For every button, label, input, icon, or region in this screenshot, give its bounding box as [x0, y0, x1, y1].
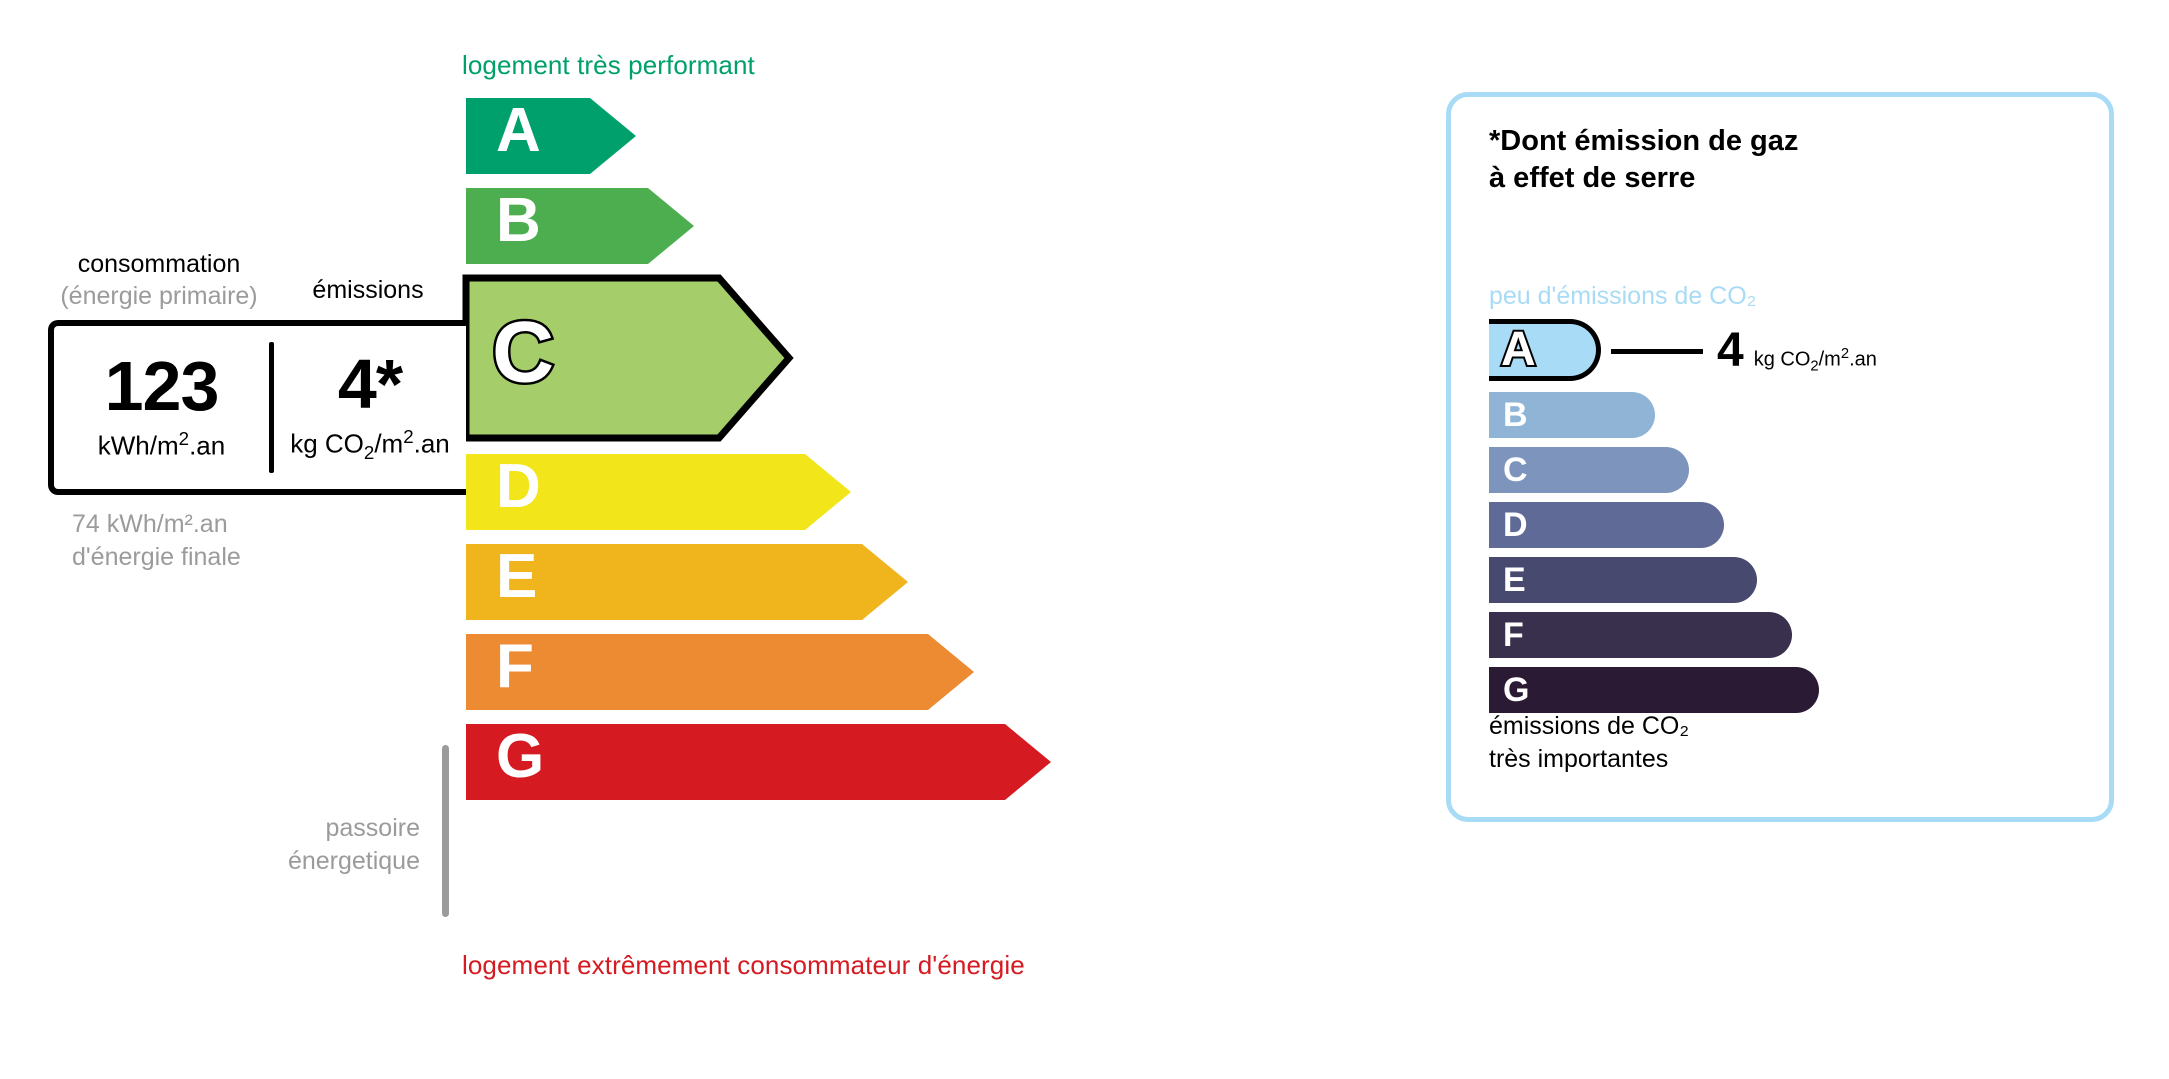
- energy-band-arrow-b: B: [462, 184, 1262, 260]
- co2-bar-row-b: B: [1489, 392, 2089, 438]
- co2-bar-letter-b: B: [1503, 398, 1528, 432]
- energy-band-e: E: [462, 540, 1262, 616]
- energy-band-arrow-d: D: [462, 450, 1262, 526]
- energy-band-g: G: [462, 720, 1262, 796]
- energy-band-f: F: [462, 630, 1262, 706]
- emission-value: 4*: [338, 351, 402, 418]
- emission-unit-prefix: kg CO: [290, 428, 364, 458]
- co2-value-unit: kg CO2/m2.an: [1754, 346, 1877, 375]
- consumption-header: consommation (énergie primaire): [48, 248, 270, 312]
- co2-bar-g: G: [1489, 667, 1819, 713]
- band-shape-d: [466, 454, 851, 530]
- co2-panel: *Dont émission de gaz à effet de serre p…: [1446, 92, 2114, 822]
- energy-band-arrow-c: C: [462, 274, 1262, 434]
- passoire-label-line2: énergetique: [230, 845, 420, 878]
- consumption-header-line1: consommation: [48, 248, 270, 280]
- co2-bar-row-c: C: [1489, 447, 2089, 493]
- co2-bar-a: A: [1489, 319, 1601, 381]
- co2-value-group: 4kg CO2/m2.an: [1717, 327, 1877, 375]
- passoire-marker-bar: [442, 745, 449, 917]
- co2-title-line2: à effet de serre: [1489, 160, 1798, 197]
- emission-value-cell: 4* kg CO2/m2.an: [274, 326, 466, 489]
- co2-bar-f: F: [1489, 612, 1792, 658]
- consumption-unit-sup: 2: [179, 428, 189, 449]
- co2-bar-letter-a: A: [1501, 326, 1536, 374]
- co2-bar-e: E: [1489, 557, 1757, 603]
- co2-bar-row-d: D: [1489, 502, 2089, 548]
- band-shape-e: [466, 544, 908, 620]
- co2-top-caption: peu d'émissions de CO₂: [1489, 282, 1756, 311]
- consumption-unit: kWh/m2.an: [98, 428, 225, 462]
- passoire-label-line1: passoire: [230, 812, 420, 845]
- energy-band-arrow-g: G: [462, 720, 1262, 796]
- co2-leader-line: [1611, 349, 1703, 354]
- co2-bar-stack: A4kg CO2/m2.anBCDEFG: [1489, 319, 2089, 722]
- emission-unit-sup: 2: [403, 426, 413, 447]
- co2-bar-letter-d: D: [1503, 508, 1528, 542]
- co2-bar-letter-g: G: [1503, 673, 1529, 707]
- co2-bottom-caption-line1: émissions de CO₂: [1489, 710, 1689, 743]
- final-energy-line1: 74 kWh/m².an: [72, 508, 241, 541]
- energy-performance-panel: logement très performant ABCDEFG logemen…: [0, 0, 1380, 1079]
- co2-unit-sup: 2: [1841, 346, 1849, 362]
- final-energy-line2: d'énergie finale: [72, 541, 241, 574]
- emission-unit: kg CO2/m2.an: [290, 426, 450, 464]
- co2-bar-letter-f: F: [1503, 618, 1524, 652]
- emissions-header: émissions: [278, 276, 458, 305]
- band-shape-b: [466, 188, 694, 264]
- consumption-unit-suffix: .an: [189, 431, 225, 461]
- co2-bar-c: C: [1489, 447, 1689, 493]
- band-shape-f: [466, 634, 974, 710]
- energy-band-b: B: [462, 184, 1262, 260]
- emission-unit-suffix: .an: [414, 428, 450, 458]
- co2-title-line1: *Dont émission de gaz: [1489, 123, 1798, 160]
- consumption-value-cell: 123 kWh/m2.an: [54, 326, 269, 489]
- band-shape-a: [466, 98, 636, 174]
- band-shape-g: [466, 724, 1051, 800]
- co2-bar-row-f: F: [1489, 612, 2089, 658]
- co2-bar-letter-c: C: [1503, 453, 1528, 487]
- energy-bottom-caption: logement extrêmement consommateur d'éner…: [462, 950, 1025, 981]
- energy-band-arrow-a: A: [462, 94, 1262, 170]
- co2-bottom-caption-line2: très importantes: [1489, 743, 1689, 776]
- co2-unit-prefix: kg CO: [1754, 349, 1811, 371]
- co2-bar-letter-e: E: [1503, 563, 1526, 597]
- energy-band-d: D: [462, 450, 1262, 526]
- band-shape-c: [466, 278, 789, 438]
- value-box: 123 kWh/m2.an 4* kg CO2/m2.an: [48, 320, 466, 495]
- co2-unit-suffix: .an: [1849, 349, 1877, 371]
- co2-value: 4: [1717, 327, 1744, 375]
- final-energy-note: 74 kWh/m².an d'énergie finale: [72, 508, 241, 573]
- co2-unit-mid: /m: [1819, 349, 1841, 371]
- co2-bar-row-g: G: [1489, 667, 2089, 713]
- co2-bar-row-e: E: [1489, 557, 2089, 603]
- co2-bottom-caption: émissions de CO₂ très importantes: [1489, 710, 1689, 775]
- emission-unit-sub: 2: [364, 442, 374, 463]
- energy-band-c: C: [462, 274, 1262, 434]
- consumption-value: 123: [105, 353, 219, 420]
- consumption-unit-prefix: kWh/m: [98, 431, 179, 461]
- energy-band-stack: ABCDEFG: [462, 94, 1262, 810]
- co2-bar-d: D: [1489, 502, 1724, 548]
- energy-band-a: A: [462, 94, 1262, 170]
- consumption-header-line2: (énergie primaire): [48, 280, 270, 312]
- passoire-label: passoire énergetique: [230, 812, 420, 877]
- energy-band-arrow-f: F: [462, 630, 1262, 706]
- energy-band-arrow-e: E: [462, 540, 1262, 616]
- co2-bar-row-a: A4kg CO2/m2.an: [1489, 319, 2089, 381]
- co2-bar-b: B: [1489, 392, 1655, 438]
- co2-unit-sub: 2: [1810, 359, 1818, 375]
- emission-unit-mid: /m: [374, 428, 403, 458]
- co2-panel-title: *Dont émission de gaz à effet de serre: [1489, 123, 1798, 197]
- energy-top-caption: logement très performant: [462, 50, 755, 81]
